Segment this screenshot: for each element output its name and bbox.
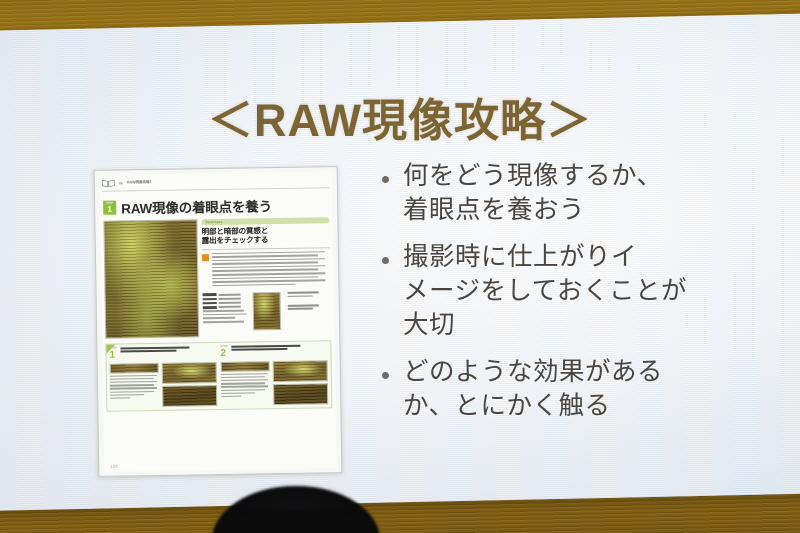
step-1-photo-before xyxy=(162,362,217,384)
magazine-callout-1 xyxy=(288,292,331,297)
step-1-head: STEP 1 xyxy=(109,346,216,360)
magazine-steps-block: STEP 1 xyxy=(105,340,332,411)
magazine-divider xyxy=(202,247,330,250)
magazine-callouts xyxy=(285,292,332,331)
magazine-badge-number: 1 xyxy=(107,206,112,214)
magazine-drop-cap xyxy=(202,254,209,261)
magazine-step-badge: STEP 1 xyxy=(103,201,116,215)
step-2-caption xyxy=(231,344,328,352)
magazine-section-label: RAW現像攻略！ xyxy=(127,180,153,185)
bullet-item: 何をどう現像するか、着眼点を養おう xyxy=(382,160,782,227)
bullet-text: 何をどう現像するか、着眼点を養おう xyxy=(403,160,663,227)
step-2-head: STEP 2 xyxy=(220,344,327,358)
step-2-slider-strip xyxy=(221,361,270,372)
bullet-item: 撮影時に仕上がりイメージをしておくことが大切 xyxy=(382,241,782,342)
magazine-section-number: 06 xyxy=(119,181,123,185)
magazine-page-number: 128 xyxy=(110,464,118,469)
bullet-dot-icon xyxy=(382,372,389,379)
magazine-page-inner: 06 RAW現像攻略！ STEP 1 RAW現像の着眼点を養う Techniqu… xyxy=(100,171,337,472)
presentation-slide: ＜RAW現像攻略＞ 06 RAW現像攻略！ STEP 1 xyxy=(0,0,800,533)
screenshot-stage: ＜RAW現像攻略＞ 06 RAW現像攻略！ STEP 1 xyxy=(0,0,800,533)
open-book-icon xyxy=(102,179,115,188)
magazine-main-photo xyxy=(103,219,199,338)
magazine-step-1: STEP 1 xyxy=(109,346,217,407)
magazine-headline-row: STEP 1 RAW現像の着眼点を養う xyxy=(103,194,329,218)
magazine-step-2: STEP 2 xyxy=(220,344,328,405)
step-1-text xyxy=(110,363,160,408)
step-1-images xyxy=(162,362,217,407)
step-2-number: STEP 2 xyxy=(220,346,228,359)
step-2-images xyxy=(273,360,328,405)
step-1-photo-after xyxy=(162,385,217,407)
step-2-text xyxy=(221,361,271,406)
step-1-columns xyxy=(110,362,218,408)
magazine-running-head: 06 RAW現像攻略！ xyxy=(102,174,330,192)
bullet-dot-icon xyxy=(382,176,389,183)
magazine-thumbnail-photo xyxy=(253,292,282,330)
magazine-badge-label: STEP xyxy=(106,203,113,206)
slide-bullet-list: 何をどう現像するか、着眼点を養おう 撮影時に仕上がりイメージをしておくことが大切… xyxy=(382,160,782,438)
bullet-text: 撮影時に仕上がりイメージをしておくことが大切 xyxy=(403,241,687,342)
magazine-headline: RAW現像の着眼点を養う xyxy=(121,195,272,217)
magazine-page-image: 06 RAW現像攻略！ STEP 1 RAW現像の着眼点を養う Techniqu… xyxy=(94,166,343,477)
magazine-text-column: Technique 明部と暗部の質感と露出をチェックする xyxy=(201,217,331,337)
bullet-dot-icon xyxy=(382,257,389,264)
steps-corner-flag xyxy=(106,345,115,354)
magazine-main-body: Technique 明部と暗部の質感と露出をチェックする xyxy=(103,217,331,339)
magazine-body-lines xyxy=(212,251,331,289)
slide-title: ＜RAW現像攻略＞ xyxy=(0,84,800,149)
magazine-paragraph xyxy=(202,251,331,289)
step-2-photo-after xyxy=(273,383,328,405)
magazine-technique-tag: Technique xyxy=(201,217,329,225)
step-2-photo-before xyxy=(273,360,328,382)
step-2-columns xyxy=(221,360,329,406)
magazine-callout-2 xyxy=(288,304,331,309)
magazine-spec-list xyxy=(203,293,250,332)
magazine-spec-block xyxy=(203,292,332,332)
step-1-caption xyxy=(120,346,217,354)
magazine-subheading: 明部と暗部の質感と露出をチェックする xyxy=(202,225,330,246)
bullet-text: どのような効果があるか、とにかく触る xyxy=(403,356,663,423)
audience-hair-wisps xyxy=(236,484,356,510)
bullet-item: どのような効果があるか、とにかく触る xyxy=(382,356,782,423)
step-1-slider-strip xyxy=(110,363,159,374)
